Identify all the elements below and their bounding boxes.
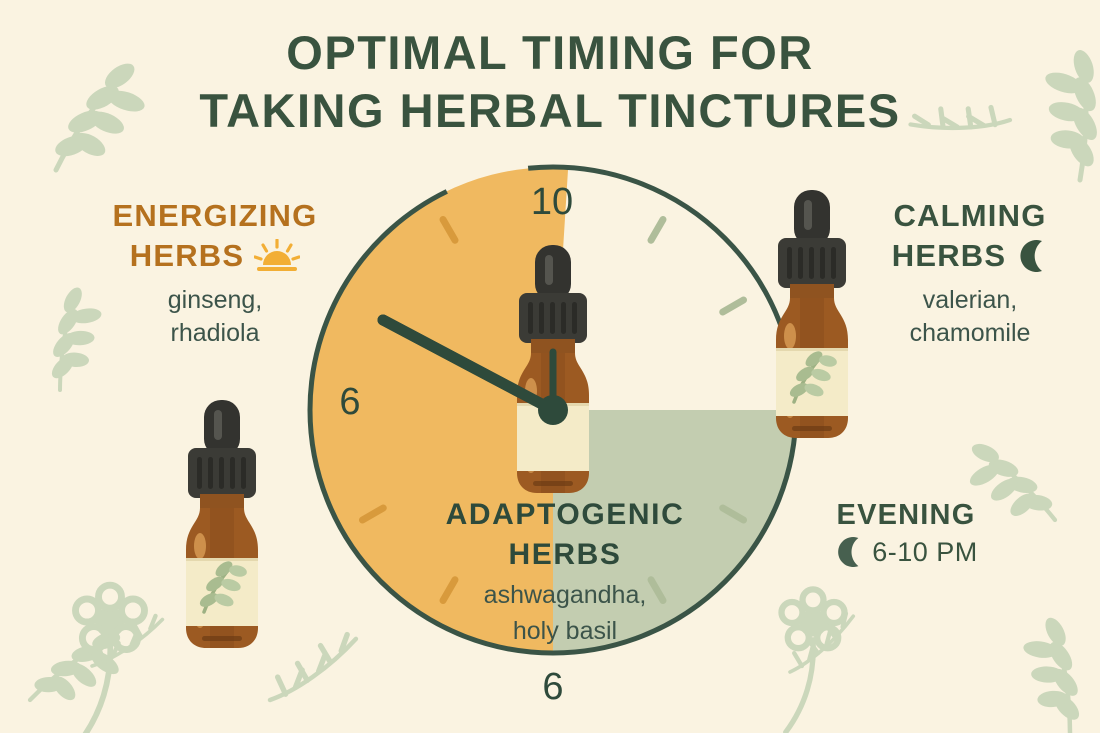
evening-title: EVENING — [806, 498, 1006, 532]
calming-heading-line2: HERBS — [892, 236, 1007, 276]
crescent-moon-icon-evening — [834, 536, 864, 568]
calming-subtext-line2: chamomile — [845, 317, 1095, 350]
evening-time-range: 6-10 PM — [872, 537, 978, 568]
evening-time-label: EVENING 6-10 PM — [806, 498, 1006, 568]
title-line-1: OPTIMAL TIMING FOR — [0, 24, 1100, 82]
sunrise-icon — [254, 239, 300, 273]
page-title: OPTIMAL TIMING FOR TAKING HERBAL TINCTUR… — [0, 24, 1100, 140]
title-line-2: TAKING HERBAL TINCTURES — [0, 82, 1100, 140]
calming-heading-line1: CALMING — [845, 196, 1095, 236]
energizing-herbs-label: ENERGIZING HERBS — [80, 196, 350, 350]
energizing-subtext-line1: ginseng, — [80, 284, 350, 317]
energizing-heading-line2: HERBS — [130, 236, 245, 276]
energizing-subtext-line2: rhadiola — [80, 317, 350, 350]
energizing-heading-line1: ENERGIZING — [80, 196, 350, 236]
crescent-moon-icon — [1016, 239, 1048, 273]
calming-herbs-label: CALMING HERBS valerian, chamomile — [845, 196, 1095, 350]
calming-subtext-line1: valerian, — [845, 284, 1095, 317]
infographic-poster: 10 6 6 ADAPTOGENIC HERBS ashwagandha, ho… — [0, 0, 1100, 733]
